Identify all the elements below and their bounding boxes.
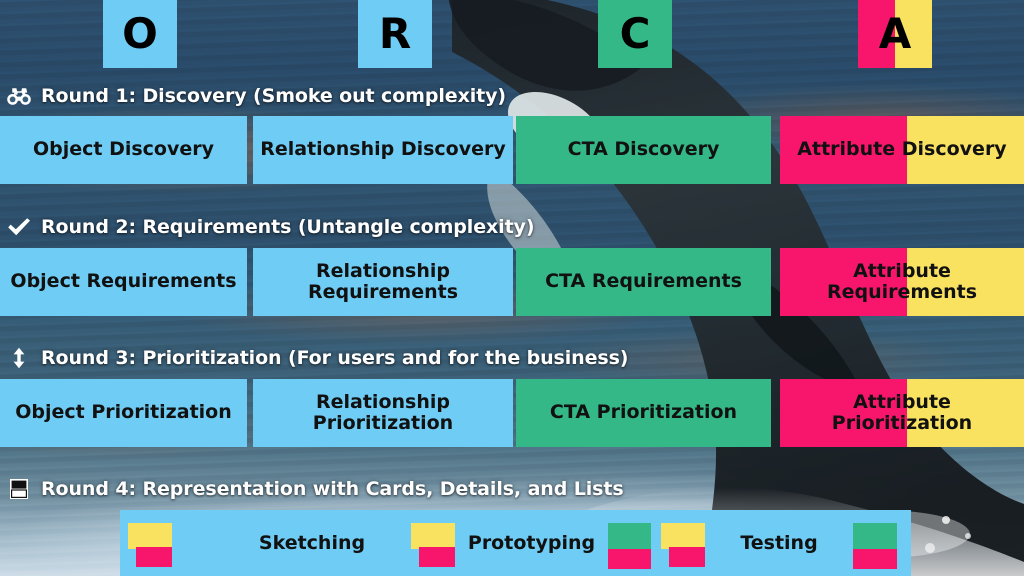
bar-label: Relationship Prioritization [307,392,459,435]
up-down-arrow-icon [6,347,32,369]
bar-label: CTA Requirements [539,271,748,292]
acronym-tile-c: C [598,0,672,68]
card-icon-top [411,523,455,549]
bar-object-requirements[interactable]: Object Requirements [0,248,247,316]
acronym-letter: R [379,13,411,55]
bar-attribute-requirements[interactable]: Attribute Requirements [780,248,1024,316]
bar-label: Object Prioritization [9,402,238,423]
bar-label: Attribute Prioritization [826,392,978,435]
bar-label: Object Requirements [4,271,242,292]
card-icon-top [128,523,172,549]
bar-label: Attribute Requirements [821,261,983,304]
bar-label: Attribute Discovery [791,139,1012,160]
card-icon-top [661,523,705,549]
bar-object-discovery[interactable]: Object Discovery [0,116,247,184]
acronym-letter: A [879,13,912,55]
card-testing-icon-left [661,521,705,565]
acronym-tile-o: O [103,0,177,68]
bar-attribute-discovery[interactable]: Attribute Discovery [780,116,1024,184]
round-1-heading-text: Round 1: Discovery (Smoke out complexity… [41,85,506,107]
round-1-heading: Round 1: Discovery (Smoke out complexity… [6,83,506,109]
card-sketch-icon-left [128,521,172,565]
mini-bar-label: Testing [705,532,853,554]
slide-canvas: O R C A Round 1: Discovery (Smoke out co… [0,0,1024,576]
acronym-tile-r: R [358,0,432,68]
card-icon-bottom [608,549,652,569]
bar-cta-discovery[interactable]: CTA Discovery [516,116,771,184]
round-4-heading: Round 4: Representation with Cards, Deta… [6,476,624,502]
round-2-heading-text: Round 2: Requirements (Untangle complexi… [41,216,534,238]
card-testing-icon-right [853,521,897,565]
card-icon-bottom [853,549,897,569]
bar-cta-prioritization[interactable]: CTA Prioritization [516,379,771,447]
card-icon-bottom [136,547,172,567]
bar-attribute-prioritization[interactable]: Attribute Prioritization [780,379,1024,447]
bar-cta-requirements[interactable]: CTA Requirements [516,248,771,316]
acronym-letter: C [620,13,651,55]
card-icon-top [608,523,652,549]
card-layout-icon [6,478,32,500]
bar-relationship-prioritization[interactable]: Relationship Prioritization [253,379,513,447]
round-3-heading-text: Round 3: Prioritization (For users and f… [41,347,628,369]
card-icon-bottom [669,547,705,567]
bar-object-prioritization[interactable]: Object Prioritization [0,379,247,447]
bar-label: CTA Prioritization [544,402,743,423]
bar-label: Object Discovery [27,139,220,160]
bar-label: CTA Discovery [562,139,726,160]
acronym-tile-a: A [858,0,932,68]
binoculars-icon [6,85,32,107]
check-icon [6,216,32,238]
bar-label: Relationship Discovery [254,139,512,160]
card-prototype-icon-right [608,521,652,565]
card-icon-top [853,523,897,549]
card-icon-bottom [419,547,455,567]
bar-prototyping[interactable]: Prototyping [403,510,658,576]
card-prototype-icon-left [411,521,455,565]
bar-relationship-discovery[interactable]: Relationship Discovery [253,116,513,184]
acronym-letter: O [122,13,158,55]
bar-testing[interactable]: Testing [651,510,911,576]
mini-bar-label: Prototyping [455,532,608,554]
round-4-heading-text: Round 4: Representation with Cards, Deta… [41,478,624,500]
bar-relationship-requirements[interactable]: Relationship Requirements [253,248,513,316]
round-2-heading: Round 2: Requirements (Untangle complexi… [6,214,534,240]
round-3-heading: Round 3: Prioritization (For users and f… [6,345,628,371]
bar-label: Relationship Requirements [302,261,464,304]
